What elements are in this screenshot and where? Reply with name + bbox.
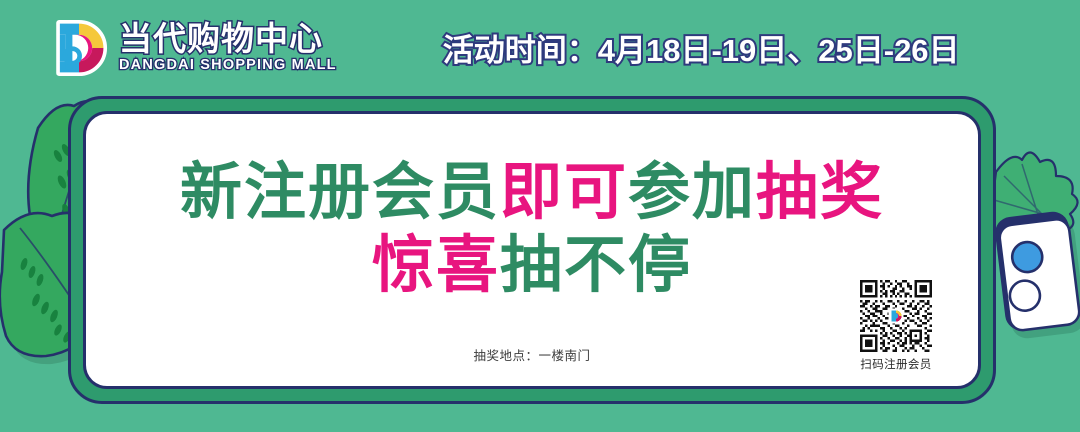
headline-line-2: 惊喜抽不停	[86, 229, 978, 302]
promo-banner: 当代购物中心 DANGDAI SHOPPING MALL 活动时间：4月18日-…	[0, 0, 1080, 432]
banner-header: 当代购物中心 DANGDAI SHOPPING MALL 活动时间：4月18日-…	[0, 0, 1080, 95]
member-card-backing	[993, 210, 1080, 332]
headline-block: 新注册会员即可参加抽奖 惊喜抽不停	[86, 156, 978, 302]
headline-line-1: 新注册会员即可参加抽奖	[86, 156, 978, 229]
card-dot-filled	[1011, 240, 1044, 273]
venue-note: 抽奖地点：一楼南门	[86, 345, 978, 364]
promo-card-inner: 新注册会员即可参加抽奖 惊喜抽不停 抽奖地点：一楼南门	[83, 111, 981, 389]
qr-code-icon[interactable]	[860, 280, 932, 352]
brand-name-cn: 当代购物中心	[119, 22, 337, 55]
headline-seg: 抽不停	[500, 231, 692, 300]
headline-seg: 抽奖	[756, 158, 884, 227]
headline-seg: 即可	[500, 158, 628, 227]
member-card-icon	[998, 218, 1080, 332]
brand-logo: 当代购物中心 DANGDAI SHOPPING MALL	[46, 15, 337, 81]
headline-seg: 新注册会员	[180, 158, 500, 227]
qr-block[interactable]: 扫码注册会员	[848, 280, 944, 372]
event-time-text: 活动时间：4月18日-19日、25日-26日	[443, 25, 960, 70]
card-dot-outline	[1008, 279, 1041, 312]
qr-caption: 扫码注册会员	[848, 356, 944, 372]
headline-seg: 参加	[628, 158, 756, 227]
palm-frond-icon	[984, 152, 1078, 280]
brand-wordmark: 当代购物中心 DANGDAI SHOPPING MALL	[119, 22, 337, 73]
promo-card: 新注册会员即可参加抽奖 惊喜抽不停 抽奖地点：一楼南门	[68, 96, 996, 404]
dangdai-d-monogram-icon	[46, 15, 112, 81]
headline-seg: 惊喜	[372, 231, 500, 300]
brand-name-en: DANGDAI SHOPPING MALL	[119, 58, 337, 73]
